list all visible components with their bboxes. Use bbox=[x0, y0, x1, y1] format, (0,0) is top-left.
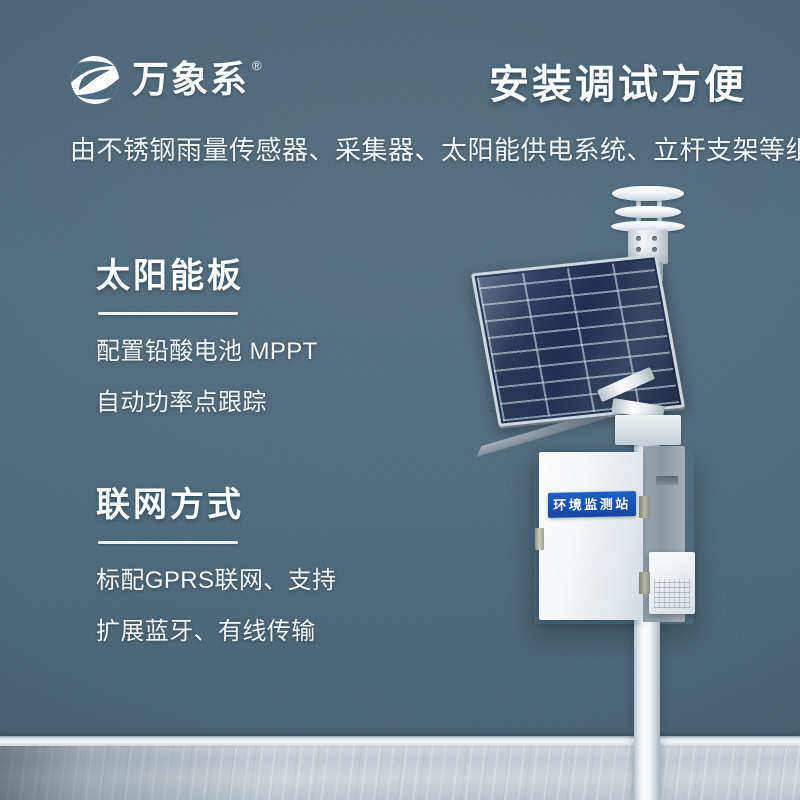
sensor-disc bbox=[612, 186, 684, 201]
feature-block-solar-panel: 太阳能板 配置铅酸电池 MPPT 自动功率点跟踪 bbox=[96, 258, 318, 417]
feature-block-network: 联网方式 标配GPRS联网、支持 扩展蓝牙、有线传输 bbox=[96, 487, 336, 646]
feature-divider bbox=[98, 541, 238, 544]
feature-line: 自动功率点跟踪 bbox=[96, 382, 318, 417]
solar-panel-face bbox=[471, 254, 685, 427]
enclosure-front-door: 环境监测站 bbox=[539, 452, 643, 620]
subheadline: 由不锈钢雨量传感器、采集器、太阳能供电系统、立杆支架等组成 bbox=[70, 130, 800, 167]
enclosure-hinge bbox=[639, 572, 650, 594]
enclosure-hinge bbox=[639, 496, 650, 518]
feature-title: 太阳能板 bbox=[96, 258, 318, 295]
feature-line: 配置铅酸电池 MPPT bbox=[96, 331, 318, 366]
bracket-plate bbox=[615, 415, 681, 445]
brand-name: 万象系 bbox=[132, 53, 249, 107]
feature-line: 标配GPRS联网、支持 bbox=[96, 560, 336, 595]
enclosure-sub-box bbox=[649, 552, 695, 614]
feature-divider bbox=[98, 312, 238, 315]
registered-trademark-mark: ® bbox=[252, 59, 262, 72]
sensor-disc bbox=[615, 206, 681, 218]
product-banner: 万象系 ® 安装调试方便 由不锈钢雨量传感器、采集器、太阳能供电系统、立杆支架等… bbox=[0, 0, 800, 800]
enclosure-name-plate: 环境监测站 bbox=[548, 491, 636, 518]
feature-line: 扩展蓝牙、有线传输 bbox=[96, 611, 336, 646]
enclosure-latch bbox=[535, 528, 544, 550]
enclosure-vent bbox=[656, 476, 678, 485]
solar-cells bbox=[477, 259, 679, 421]
feature-title: 联网方式 bbox=[96, 487, 336, 524]
enclosure-label-text: 环境监测站 bbox=[553, 497, 631, 512]
headline: 安装调试方便 bbox=[489, 52, 747, 110]
globe-swoosh-logo-icon bbox=[68, 53, 122, 107]
equipment-enclosure: 环境监测站 bbox=[539, 452, 685, 620]
brand-logo-lockup: 万象系 ® bbox=[68, 52, 262, 108]
